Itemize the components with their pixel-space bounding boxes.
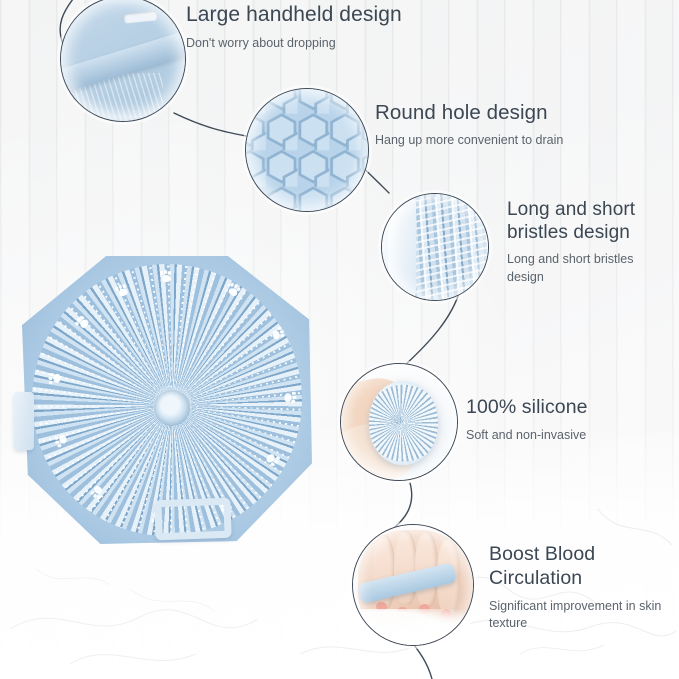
feature-subtitle-round-hole: Hang up more convenient to drain: [375, 132, 635, 149]
feature-image-long-short-bristles[interactable]: [381, 193, 489, 301]
main-product-image[interactable]: [14, 246, 320, 552]
feature-subtitle-boost-blood-circulation: Significant improvement in skin texture: [489, 598, 669, 633]
feature-text-large-handheld: Large handheld design Don't worry about …: [186, 2, 416, 52]
feature-text-silicone: 100% silicone Soft and non-invasive: [466, 396, 666, 444]
feature-image-round-hole[interactable]: [245, 88, 369, 212]
feature-title-long-short-bristles: Long and short bristles design: [507, 198, 667, 244]
feature-text-boost-blood-circulation: Boost Blood Circulation Significant impr…: [489, 543, 669, 632]
feature-image-large-handheld[interactable]: [60, 0, 186, 122]
feature-text-round-hole: Round hole design Hang up more convenien…: [375, 100, 635, 149]
feature-title-silicone: 100% silicone: [466, 396, 666, 420]
feature-subtitle-long-short-bristles: Long and short bristles design: [507, 251, 667, 286]
product-side-tab: [14, 392, 34, 450]
feature-image-boost-blood-circulation[interactable]: [352, 524, 474, 646]
feature-text-long-short-bristles: Long and short bristles design Long and …: [507, 198, 667, 286]
feature-title-round-hole: Round hole design: [375, 100, 635, 125]
product-handle-loop: [154, 498, 231, 541]
feature-subtitle-large-handheld: Don't worry about dropping: [186, 35, 416, 52]
infographic-canvas: Large handheld design Don't worry about …: [0, 0, 679, 679]
feature-image-silicone[interactable]: [340, 363, 458, 481]
feature-title-boost-blood-circulation: Boost Blood Circulation: [489, 543, 669, 591]
product-center-hub: [154, 390, 190, 426]
feature-title-large-handheld: Large handheld design: [186, 2, 416, 28]
feature-subtitle-silicone: Soft and non-invasive: [466, 427, 666, 444]
